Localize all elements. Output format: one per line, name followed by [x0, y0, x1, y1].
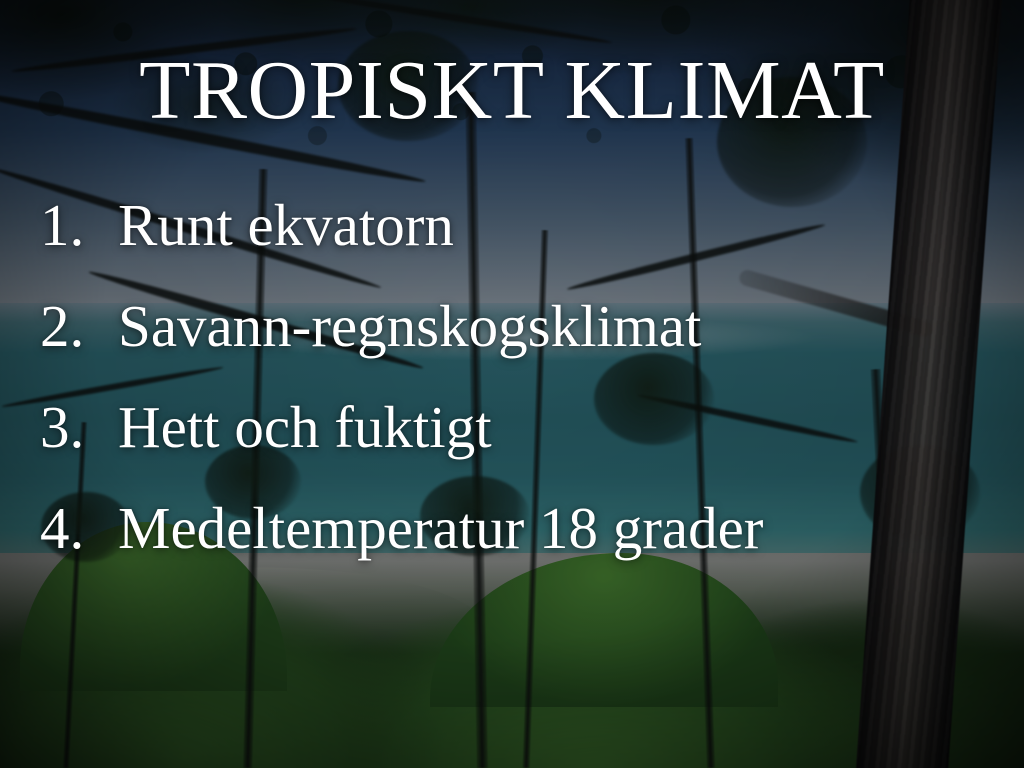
bullet-text: Hett och fuktigt: [118, 398, 492, 457]
slide-title: TROPISKT KLIMAT: [0, 48, 1024, 134]
bullet-text: Savann-regnskogsklimat: [118, 297, 701, 356]
bullet-marker: 2.: [40, 297, 118, 356]
slide-content: TROPISKT KLIMAT 1. Runt ekvatorn 2. Sava…: [0, 0, 1024, 768]
bullet-text: Runt ekvatorn: [118, 196, 454, 255]
bullet-item-4: 4. Medeltemperatur 18 grader: [40, 499, 1008, 600]
bullet-item-1: 1. Runt ekvatorn: [40, 196, 1008, 297]
bullet-text: Medeltemperatur 18 grader: [118, 499, 763, 558]
bullet-marker: 4.: [40, 499, 118, 558]
bullet-list: 1. Runt ekvatorn 2. Savann-regnskogsklim…: [40, 196, 1008, 600]
bullet-item-2: 2. Savann-regnskogsklimat: [40, 297, 1008, 398]
bullet-marker: 1.: [40, 196, 118, 255]
bullet-marker: 3.: [40, 398, 118, 457]
presentation-slide: TROPISKT KLIMAT 1. Runt ekvatorn 2. Sava…: [0, 0, 1024, 768]
bullet-item-3: 3. Hett och fuktigt: [40, 398, 1008, 499]
